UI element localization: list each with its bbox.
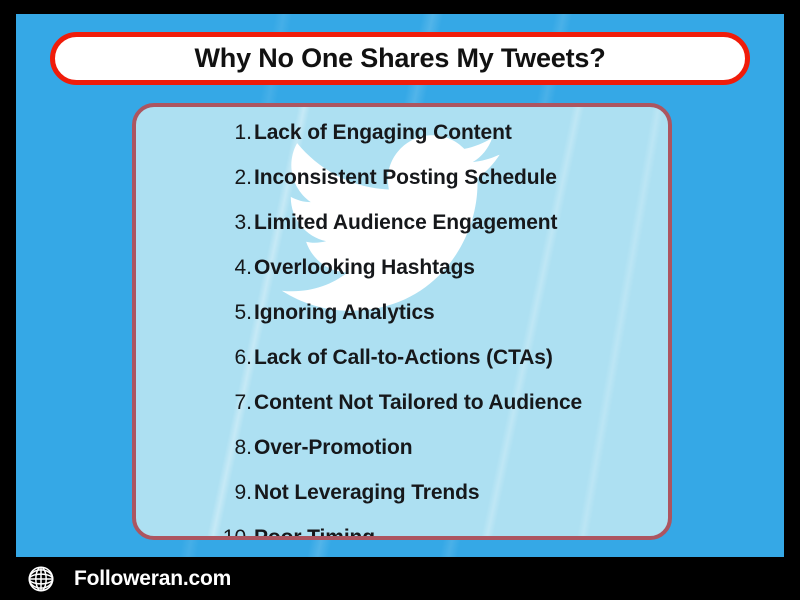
list-item-number: 9. [136, 481, 254, 505]
list-item: 5. Ignoring Analytics [136, 301, 668, 346]
list-item-label: Ignoring Analytics [254, 301, 435, 325]
list-item: 2. Inconsistent Posting Schedule [136, 166, 668, 211]
list-item-label: Limited Audience Engagement [254, 211, 557, 235]
infographic-canvas: Why No One Shares My Tweets? 1. Lack of … [0, 0, 800, 600]
list-item: 7. Content Not Tailored to Audience [136, 391, 668, 436]
list-item-number: 10. [136, 526, 254, 540]
list-item-number: 8. [136, 436, 254, 460]
list-item-number: 3. [136, 211, 254, 235]
list-item: 8. Over-Promotion [136, 436, 668, 481]
list-item-label: Lack of Call-to-Actions (CTAs) [254, 346, 553, 370]
list-item-label: Poor Timing [254, 526, 375, 540]
list-card: 1. Lack of Engaging Content 2. Inconsist… [132, 103, 672, 540]
reasons-list: 1. Lack of Engaging Content 2. Inconsist… [136, 107, 668, 540]
list-item-label: Overlooking Hashtags [254, 256, 475, 280]
list-item-label: Content Not Tailored to Audience [254, 391, 582, 415]
list-item-label: Over-Promotion [254, 436, 412, 460]
list-item: 1. Lack of Engaging Content [136, 121, 668, 166]
list-item-label: Inconsistent Posting Schedule [254, 166, 557, 190]
list-item-label: Not Leveraging Trends [254, 481, 479, 505]
list-item-label: Lack of Engaging Content [254, 121, 512, 145]
list-item-number: 7. [136, 391, 254, 415]
title-banner: Why No One Shares My Tweets? [50, 32, 750, 85]
footer-bar: Followeran.com [0, 557, 800, 600]
list-item-number: 4. [136, 256, 254, 280]
footer-site-label: Followeran.com [74, 567, 231, 591]
list-item: 4. Overlooking Hashtags [136, 256, 668, 301]
page-title: Why No One Shares My Tweets? [195, 45, 606, 72]
list-item: 3. Limited Audience Engagement [136, 211, 668, 256]
globe-icon [26, 564, 56, 594]
main-panel: Why No One Shares My Tweets? 1. Lack of … [16, 14, 784, 557]
list-item-number: 1. [136, 121, 254, 145]
list-item-number: 6. [136, 346, 254, 370]
list-item: 10. Poor Timing [136, 526, 668, 540]
list-item: 6. Lack of Call-to-Actions (CTAs) [136, 346, 668, 391]
list-item: 9. Not Leveraging Trends [136, 481, 668, 526]
list-item-number: 2. [136, 166, 254, 190]
list-item-number: 5. [136, 301, 254, 325]
